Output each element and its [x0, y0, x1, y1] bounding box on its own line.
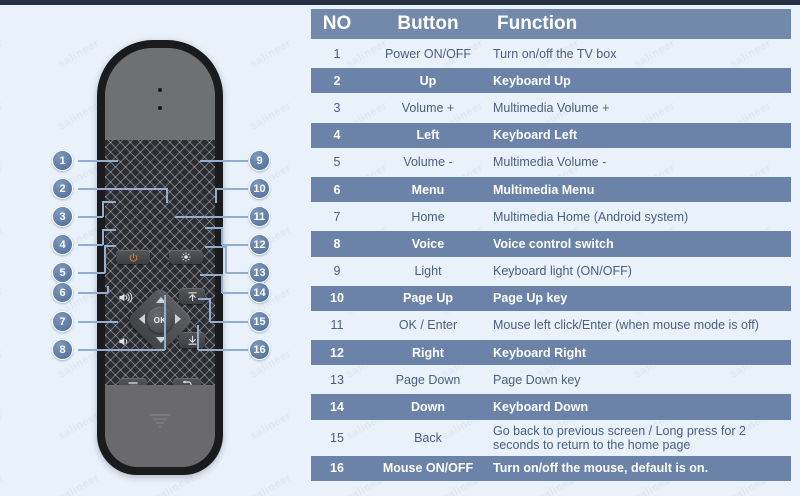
ir-led-dot: [158, 88, 162, 92]
row-cell-button: Right: [363, 346, 493, 360]
leader-line-15b: [209, 298, 211, 322]
table-row: 8VoiceVoice control switch: [310, 230, 792, 257]
brightness-icon: [181, 252, 191, 262]
leader-line-12c: [205, 227, 222, 229]
button-function-table: NO Button Function 1Power ON/OFFTurn on/…: [310, 8, 792, 492]
row-cell-function: Keyboard light (ON/OFF): [493, 264, 791, 278]
header-cell-function: Function: [493, 13, 791, 35]
leader-line-13c: [205, 246, 226, 248]
leader-line-2a: [78, 188, 167, 190]
row-cell-button: Back: [363, 431, 493, 445]
leader-line-4c: [102, 229, 116, 231]
row-cell-function: Voice control switch: [493, 237, 791, 251]
callout-badge-6[interactable]: 6: [52, 282, 73, 303]
page-down-icon: [187, 335, 198, 346]
dpad[interactable]: OK: [133, 282, 187, 358]
row-cell-button: Up: [363, 74, 493, 88]
callout-badge-8[interactable]: 8: [52, 339, 73, 360]
leader-line-14b: [221, 274, 223, 293]
table-row: 16Mouse ON/OFFTurn on/off the mouse, def…: [310, 455, 792, 482]
row-cell-no: 12: [311, 346, 363, 360]
leader-line-4b: [102, 229, 104, 245]
row-cell-function: Keyboard Up: [493, 74, 791, 88]
row-cell-no: 10: [311, 291, 363, 305]
volume-up-icon: [118, 292, 134, 303]
row-cell-button: Power ON/OFF: [363, 47, 493, 61]
row-cell-function: Turn on/off the mouse, default is on.: [493, 461, 791, 475]
leader-line-1: [78, 160, 118, 162]
remote-faceplate: OK: [105, 48, 215, 467]
leader-line-16a: [198, 349, 248, 351]
table-header-row: NO Button Function: [310, 8, 792, 40]
table-row: 4LeftKeyboard Left: [310, 122, 792, 149]
power-icon: [129, 253, 138, 262]
row-cell-no: 5: [311, 155, 363, 169]
leader-line-8b: [164, 295, 166, 350]
ok-button[interactable]: OK: [147, 307, 173, 333]
row-cell-no: 16: [311, 461, 363, 475]
row-cell-button: Menu: [363, 183, 493, 197]
callout-badge-10[interactable]: 10: [249, 178, 270, 199]
row-cell-no: 6: [311, 183, 363, 197]
row-cell-no: 9: [311, 264, 363, 278]
leader-line-10b: [215, 188, 217, 203]
leader-line-14c: [200, 274, 222, 276]
leader-line-14a: [222, 292, 248, 294]
leader-line-3b: [102, 201, 104, 217]
leader-line-3c: [102, 201, 116, 203]
table-row: 13Page DownPage Down key: [310, 366, 792, 393]
leader-line-16b: [197, 325, 199, 350]
remote-diagram: OK: [0, 5, 300, 496]
row-cell-no: 14: [311, 400, 363, 414]
top-strip: [0, 0, 800, 5]
table-row: 10Page UpPage Up key: [310, 285, 792, 312]
remote-top-panel: [105, 48, 215, 140]
table-row: 2UpKeyboard Up: [310, 67, 792, 94]
row-cell-button: Home: [363, 210, 493, 224]
table-row: 14DownKeyboard Down: [310, 393, 792, 420]
row-cell-no: 15: [311, 431, 363, 445]
leader-line-10a: [216, 188, 248, 190]
table-row: 6MenuMultimedia Menu: [310, 176, 792, 203]
row-cell-no: 3: [311, 101, 363, 115]
callout-badge-11[interactable]: 11: [249, 206, 270, 227]
row-cell-function: Page Down key: [493, 373, 791, 387]
callout-badge-4[interactable]: 4: [52, 234, 73, 255]
callout-badge-5[interactable]: 5: [52, 262, 73, 283]
table-row: 12RightKeyboard Right: [310, 339, 792, 366]
callout-badge-14[interactable]: 14: [249, 282, 270, 303]
row-cell-function: Page Up key: [493, 291, 791, 305]
row-cell-function: Go back to previous screen / Long press …: [493, 424, 791, 452]
row-cell-no: 13: [311, 373, 363, 387]
left-button[interactable]: [139, 314, 145, 324]
callout-badge-3[interactable]: 3: [52, 206, 73, 227]
callout-badge-9[interactable]: 9: [249, 150, 270, 171]
callout-badge-16[interactable]: 16: [249, 339, 270, 360]
row-cell-button: Volume -: [363, 155, 493, 169]
right-button[interactable]: [175, 314, 181, 324]
callout-badge-2[interactable]: 2: [52, 178, 73, 199]
light-button[interactable]: [169, 250, 203, 264]
row-cell-no: 4: [311, 128, 363, 142]
leader-line-3a: [78, 216, 103, 218]
header-cell-no: NO: [311, 13, 363, 35]
row-cell-no: 7: [311, 210, 363, 224]
row-cell-no: 8: [311, 237, 363, 251]
row-cell-no: 2: [311, 74, 363, 88]
row-cell-button: Left: [363, 128, 493, 142]
row-cell-button: Volume +: [363, 101, 493, 115]
row-cell-button: OK / Enter: [363, 318, 493, 332]
table-row: 15BackGo back to previous screen / Long …: [310, 421, 792, 455]
row-cell-function: Turn on/off the TV box: [493, 47, 791, 61]
volume-down-icon: [118, 336, 134, 347]
leader-line-13b: [225, 246, 227, 273]
leader-line-13a: [226, 272, 248, 274]
callout-badge-12[interactable]: 12: [249, 234, 270, 255]
leader-line-9: [200, 160, 248, 162]
row-cell-function: Keyboard Down: [493, 400, 791, 414]
header-cell-button: Button: [363, 13, 493, 35]
callout-badge-7[interactable]: 7: [52, 311, 73, 332]
leader-line-5b: [104, 245, 106, 273]
callout-badge-1[interactable]: 1: [52, 150, 73, 171]
row-cell-button: Page Up: [363, 291, 493, 305]
leader-line-6b: [107, 286, 109, 293]
row-cell-function: Multimedia Volume +: [493, 101, 791, 115]
callout-badge-13[interactable]: 13: [249, 262, 270, 283]
page-up-icon: [187, 291, 198, 302]
table-row: 11OK / EnterMouse left click/Enter (when…: [310, 312, 792, 339]
row-cell-button: Down: [363, 400, 493, 414]
table-row: 7HomeMultimedia Home (Android system): [310, 203, 792, 230]
table-row: 5Volume -Multimedia Volume -: [310, 149, 792, 176]
leader-line-15a: [210, 321, 248, 323]
row-cell-button: Voice: [363, 237, 493, 251]
row-cell-function: Multimedia Home (Android system): [493, 210, 791, 224]
row-cell-function: Multimedia Menu: [493, 183, 791, 197]
leader-line-6a: [78, 292, 108, 294]
table-row: 3Volume +Multimedia Volume +: [310, 94, 792, 121]
row-cell-function: Mouse left click/Enter (when mouse mode …: [493, 318, 791, 332]
leader-line-5c: [104, 245, 116, 247]
status-led-dot: [158, 106, 162, 110]
table-row: 9LightKeyboard light (ON/OFF): [310, 258, 792, 285]
leader-line-7: [78, 321, 118, 323]
remote-battery-cover: [105, 385, 215, 467]
leader-line-12b: [221, 227, 223, 245]
row-cell-button: Light: [363, 264, 493, 278]
row-cell-function: Keyboard Left: [493, 128, 791, 142]
leader-line-8a: [78, 349, 165, 351]
row-cell-function: Keyboard Right: [493, 346, 791, 360]
remote-body: OK: [97, 40, 223, 475]
battery-cover-ridge: [149, 414, 171, 428]
row-cell-no: 1: [311, 47, 363, 61]
row-cell-button: Mouse ON/OFF: [363, 461, 493, 475]
row-cell-button: Page Down: [363, 373, 493, 387]
leader-line-5a: [78, 272, 105, 274]
table-row: 1Power ON/OFFTurn on/off the TV box: [310, 40, 792, 67]
leader-line-11: [175, 216, 248, 218]
leader-line-2b: [166, 188, 168, 203]
callout-badge-15[interactable]: 15: [249, 311, 270, 332]
row-cell-no: 11: [311, 318, 363, 332]
row-cell-function: Multimedia Volume -: [493, 155, 791, 169]
power-button[interactable]: [116, 250, 150, 264]
leader-line-4a: [78, 244, 103, 246]
leader-line-15c: [198, 298, 210, 300]
